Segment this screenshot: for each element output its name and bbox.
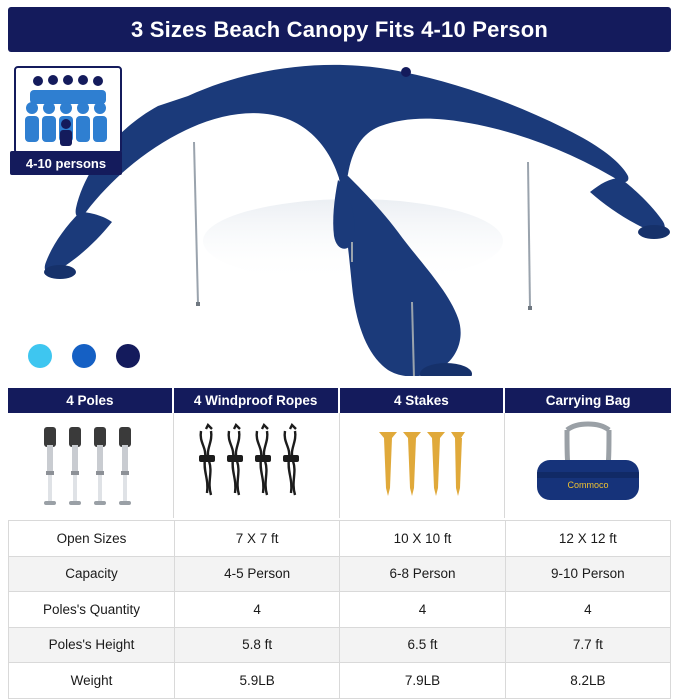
people-group-icon bbox=[16, 68, 120, 152]
header-banner: 3 Sizes Beach Canopy Fits 4-10 Person bbox=[8, 7, 671, 52]
accessory-column-ropes: 4 Windproof Ropes bbox=[174, 388, 340, 518]
spec-label-open-sizes: Open Sizes bbox=[9, 521, 175, 557]
spec-label-weight: Weight bbox=[9, 663, 175, 699]
spec-value-capacity-2: 6-8 Person bbox=[340, 556, 505, 592]
spec-value-poles-height-1: 5.8 ft bbox=[175, 627, 340, 663]
table-row: Open Sizes 7 X 7 ft 10 X 10 ft 12 X 12 f… bbox=[9, 521, 671, 557]
spec-value-capacity-1: 4-5 Person bbox=[175, 556, 340, 592]
accessories-table: 4 Poles bbox=[8, 388, 671, 518]
ropes-icon bbox=[191, 421, 321, 511]
accessory-image-bag: Commoco bbox=[505, 413, 671, 518]
spec-label-capacity: Capacity bbox=[9, 556, 175, 592]
poles-icon bbox=[30, 421, 150, 511]
accessory-image-ropes bbox=[174, 413, 340, 518]
capacity-badge bbox=[14, 66, 122, 154]
spec-value-poles-height-3: 7.7 ft bbox=[505, 627, 670, 663]
spec-value-capacity-3: 9-10 Person bbox=[505, 556, 670, 592]
spec-value-open-sizes-1: 7 X 7 ft bbox=[175, 521, 340, 557]
spec-value-poles-quantity-3: 4 bbox=[505, 592, 670, 628]
swatch-medium-blue[interactable] bbox=[72, 344, 96, 368]
color-swatch-list bbox=[28, 344, 140, 368]
accessory-column-poles: 4 Poles bbox=[8, 388, 174, 518]
swatch-navy-blue[interactable] bbox=[116, 344, 140, 368]
accessory-title-bag: Carrying Bag bbox=[505, 388, 671, 413]
accessory-title-ropes: 4 Windproof Ropes bbox=[174, 388, 340, 413]
accessory-title-stakes: 4 Stakes bbox=[340, 388, 506, 413]
specification-table: Open Sizes 7 X 7 ft 10 X 10 ft 12 X 12 f… bbox=[8, 520, 671, 699]
hero-image: 4-10 persons bbox=[8, 56, 671, 376]
accessory-image-stakes bbox=[340, 413, 506, 518]
accessory-title-poles: 4 Poles bbox=[8, 388, 174, 413]
spec-value-open-sizes-3: 12 X 12 ft bbox=[505, 521, 670, 557]
stakes-icon bbox=[367, 424, 477, 508]
capacity-badge-label: 4-10 persons bbox=[10, 151, 122, 175]
spec-label-poles-quantity: Poles's Quantity bbox=[9, 592, 175, 628]
accessory-image-poles bbox=[8, 413, 174, 518]
table-row: Weight 5.9LB 7.9LB 8.2LB bbox=[9, 663, 671, 699]
swatch-light-blue[interactable] bbox=[28, 344, 52, 368]
spec-value-poles-height-2: 6.5 ft bbox=[340, 627, 505, 663]
page-title: 3 Sizes Beach Canopy Fits 4-10 Person bbox=[131, 17, 548, 43]
table-row: Capacity 4-5 Person 6-8 Person 9-10 Pers… bbox=[9, 556, 671, 592]
accessory-column-bag: Carrying Bag Commoco bbox=[505, 388, 671, 518]
product-infographic: 3 Sizes Beach Canopy Fits 4-10 Person bbox=[0, 0, 679, 699]
svg-text:Commoco: Commoco bbox=[568, 480, 609, 490]
spec-value-weight-1: 5.9LB bbox=[175, 663, 340, 699]
bag-icon: Commoco bbox=[523, 420, 653, 512]
spec-value-weight-2: 7.9LB bbox=[340, 663, 505, 699]
accessory-column-stakes: 4 Stakes bbox=[340, 388, 506, 518]
spec-value-poles-quantity-1: 4 bbox=[175, 592, 340, 628]
spec-label-poles-height: Poles's Height bbox=[9, 627, 175, 663]
spec-value-open-sizes-2: 10 X 10 ft bbox=[340, 521, 505, 557]
table-row: Poles's Quantity 4 4 4 bbox=[9, 592, 671, 628]
spec-value-poles-quantity-2: 4 bbox=[340, 592, 505, 628]
spec-value-weight-3: 8.2LB bbox=[505, 663, 670, 699]
table-row: Poles's Height 5.8 ft 6.5 ft 7.7 ft bbox=[9, 627, 671, 663]
